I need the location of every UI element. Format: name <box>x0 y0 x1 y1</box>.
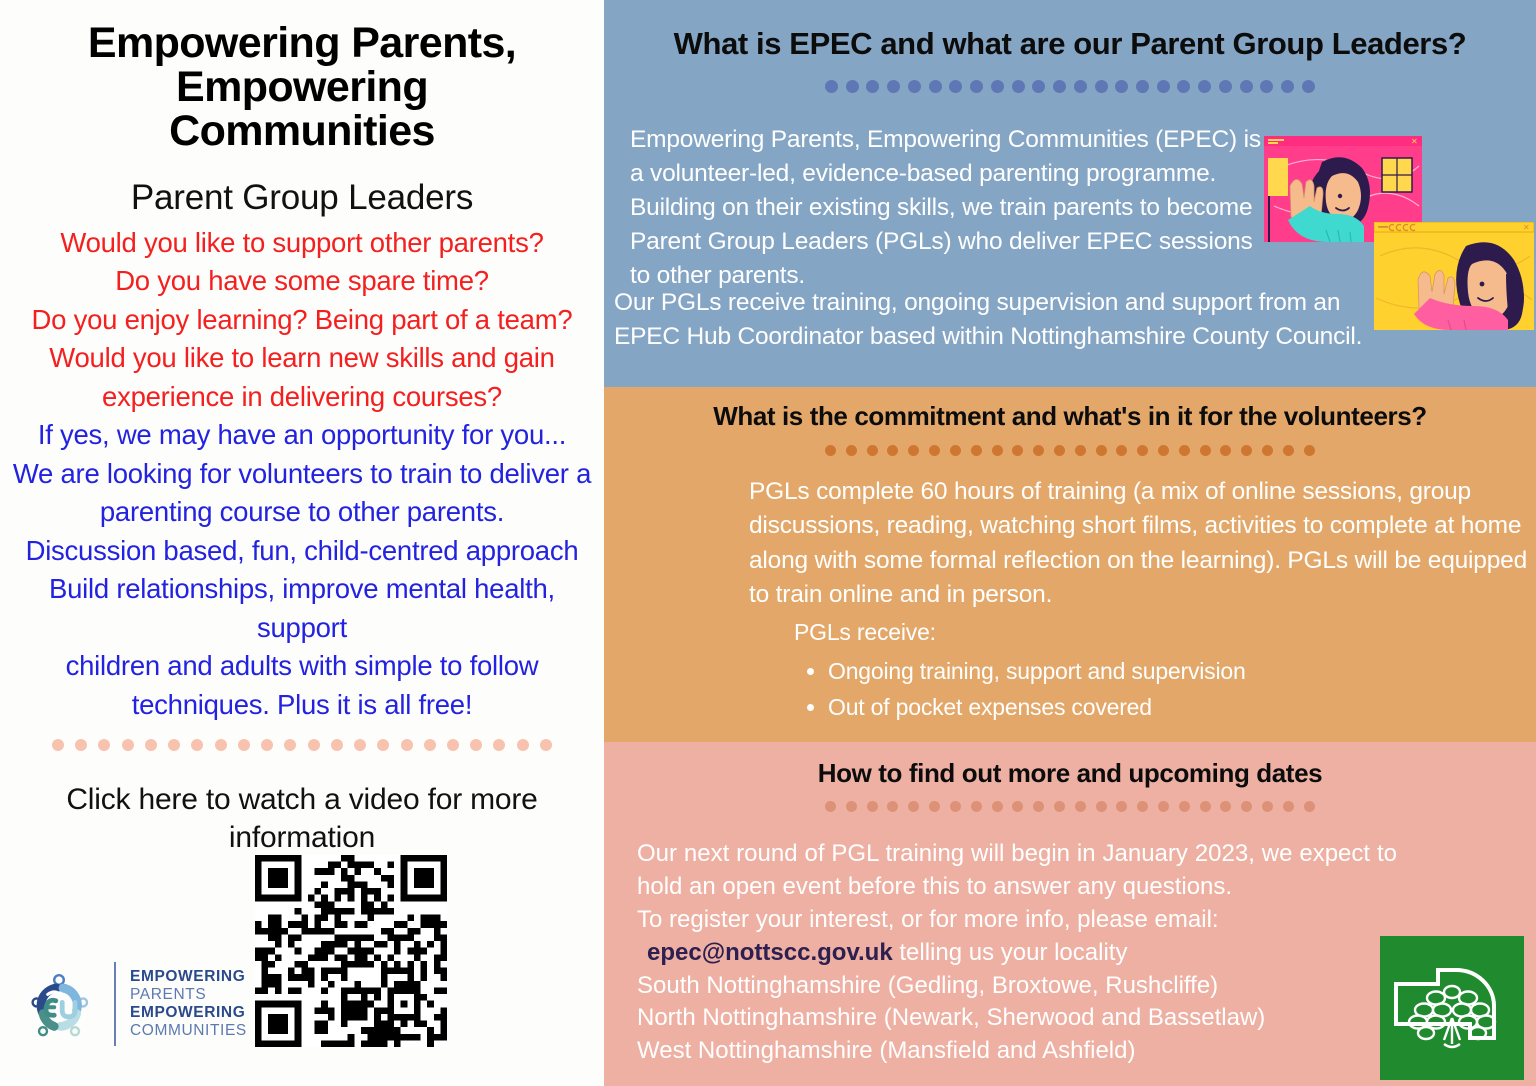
blue-line: We are looking for volunteers to train t… <box>8 455 596 494</box>
title-line-3: Communities <box>38 110 566 154</box>
list-item: Out of pocket expenses covered <box>828 690 1394 725</box>
blue-line: children and adults with simple to follo… <box>8 647 596 686</box>
poster: Empowering Parents, Empowering Communiti… <box>0 0 1536 1086</box>
section-what-is-epec: What is EPEC and what are our Parent Gro… <box>604 0 1536 387</box>
title-line-2: Empowering <box>38 66 566 110</box>
email-line: epec@nottscc.gov.uk telling us your loca… <box>637 937 1397 970</box>
contact-details-block: Our next round of PGL training will begi… <box>637 838 1397 1068</box>
qr-code[interactable] <box>255 855 447 1047</box>
red-line: Do you have some spare time? <box>8 262 596 301</box>
epec-logo-wordmark: EMPOWERING PARENTS EMPOWERING COMMUNITIE… <box>130 968 247 1041</box>
commitment-paragraph: PGLs complete 60 hours of training (a mi… <box>749 475 1536 612</box>
epec-circles-icon <box>18 964 100 1044</box>
red-line: Would you like to support other parents? <box>8 224 596 263</box>
register-interest-text: To register your interest, or for more i… <box>637 904 1397 937</box>
pgls-benefits-list: Ongoing training, support and supervisio… <box>828 654 1394 725</box>
blue-line: Build relationships, improve mental heal… <box>8 570 596 647</box>
logo-line-1: EMPOWERING <box>130 968 247 986</box>
svg-text:✕: ✕ <box>1523 223 1530 232</box>
locality-line: North Nottinghamshire (Newark, Sherwood … <box>637 1002 1397 1035</box>
pgls-receive-label: PGLs receive: <box>794 615 1394 650</box>
title-line-1: Empowering Parents, <box>38 22 566 66</box>
epec-paragraph-1: Empowering Parents, Empowering Communiti… <box>630 123 1270 293</box>
dotted-divider-blue <box>825 79 1315 93</box>
dotted-divider-pink <box>825 800 1315 812</box>
red-line: Do you enjoy learning? Being part of a t… <box>8 301 596 340</box>
section-heading-commitment: What is the commitment and what's in it … <box>604 387 1536 432</box>
epec-paragraph-2: Our PGLs receive training, ongoing super… <box>614 286 1374 354</box>
video-call-window-yellow-icon: ✕ <box>1374 222 1534 330</box>
section-commitment: What is the commitment and what's in it … <box>604 387 1536 742</box>
svg-text:✕: ✕ <box>1411 137 1418 146</box>
page-subtitle: Parent Group Leaders <box>8 178 596 218</box>
red-question-block: Would you like to support other parents?… <box>8 224 596 417</box>
right-column: What is EPEC and what are our Parent Gro… <box>604 0 1536 1086</box>
dotted-divider-orange <box>825 444 1315 456</box>
locality-line: West Nottinghamshire (Mansfield and Ashf… <box>637 1035 1397 1068</box>
pgls-receive-block: PGLs receive: Ongoing training, support … <box>794 615 1394 727</box>
blue-line: techniques. Plus it is all free! <box>8 686 596 725</box>
list-item: Ongoing training, support and supervisio… <box>828 654 1394 689</box>
logo-divider <box>114 962 116 1046</box>
nottinghamshire-county-council-logo <box>1374 932 1530 1084</box>
logo-line-4: COMMUNITIES <box>130 1022 247 1040</box>
epec-logo: EMPOWERING PARENTS EMPOWERING COMMUNITIE… <box>18 962 247 1046</box>
left-column: Empowering Parents, Empowering Communiti… <box>0 0 604 1086</box>
email-suffix: telling us your locality <box>893 939 1128 966</box>
blue-statement-block: If yes, we may have an opportunity for y… <box>8 416 596 724</box>
section-heading-find-out-more: How to find out more and upcoming dates <box>604 742 1536 789</box>
next-round-paragraph: Our next round of PGL training will begi… <box>637 838 1397 904</box>
section-find-out-more: How to find out more and upcoming dates … <box>604 742 1536 1086</box>
logo-line-2: PARENTS <box>130 986 247 1004</box>
page-title: Empowering Parents, Empowering Communiti… <box>8 22 596 154</box>
blue-line: parenting course to other parents. <box>8 493 596 532</box>
blue-line: Discussion based, fun, child-centred app… <box>8 532 596 571</box>
blue-line: If yes, we may have an opportunity for y… <box>8 416 596 455</box>
red-line: experience in delivering courses? <box>8 378 596 417</box>
red-line: Would you like to learn new skills and g… <box>8 339 596 378</box>
section-heading-epec: What is EPEC and what are our Parent Gro… <box>604 0 1536 62</box>
qr-code-image[interactable] <box>255 855 447 1047</box>
video-link-text[interactable]: Click here to watch a video for more inf… <box>8 781 596 858</box>
logo-line-3: EMPOWERING <box>130 1004 247 1022</box>
email-address[interactable]: epec@nottscc.gov.uk <box>647 939 893 966</box>
dotted-divider-left <box>52 738 552 751</box>
locality-line: South Nottinghamshire (Gedling, Broxtowe… <box>637 970 1397 1003</box>
